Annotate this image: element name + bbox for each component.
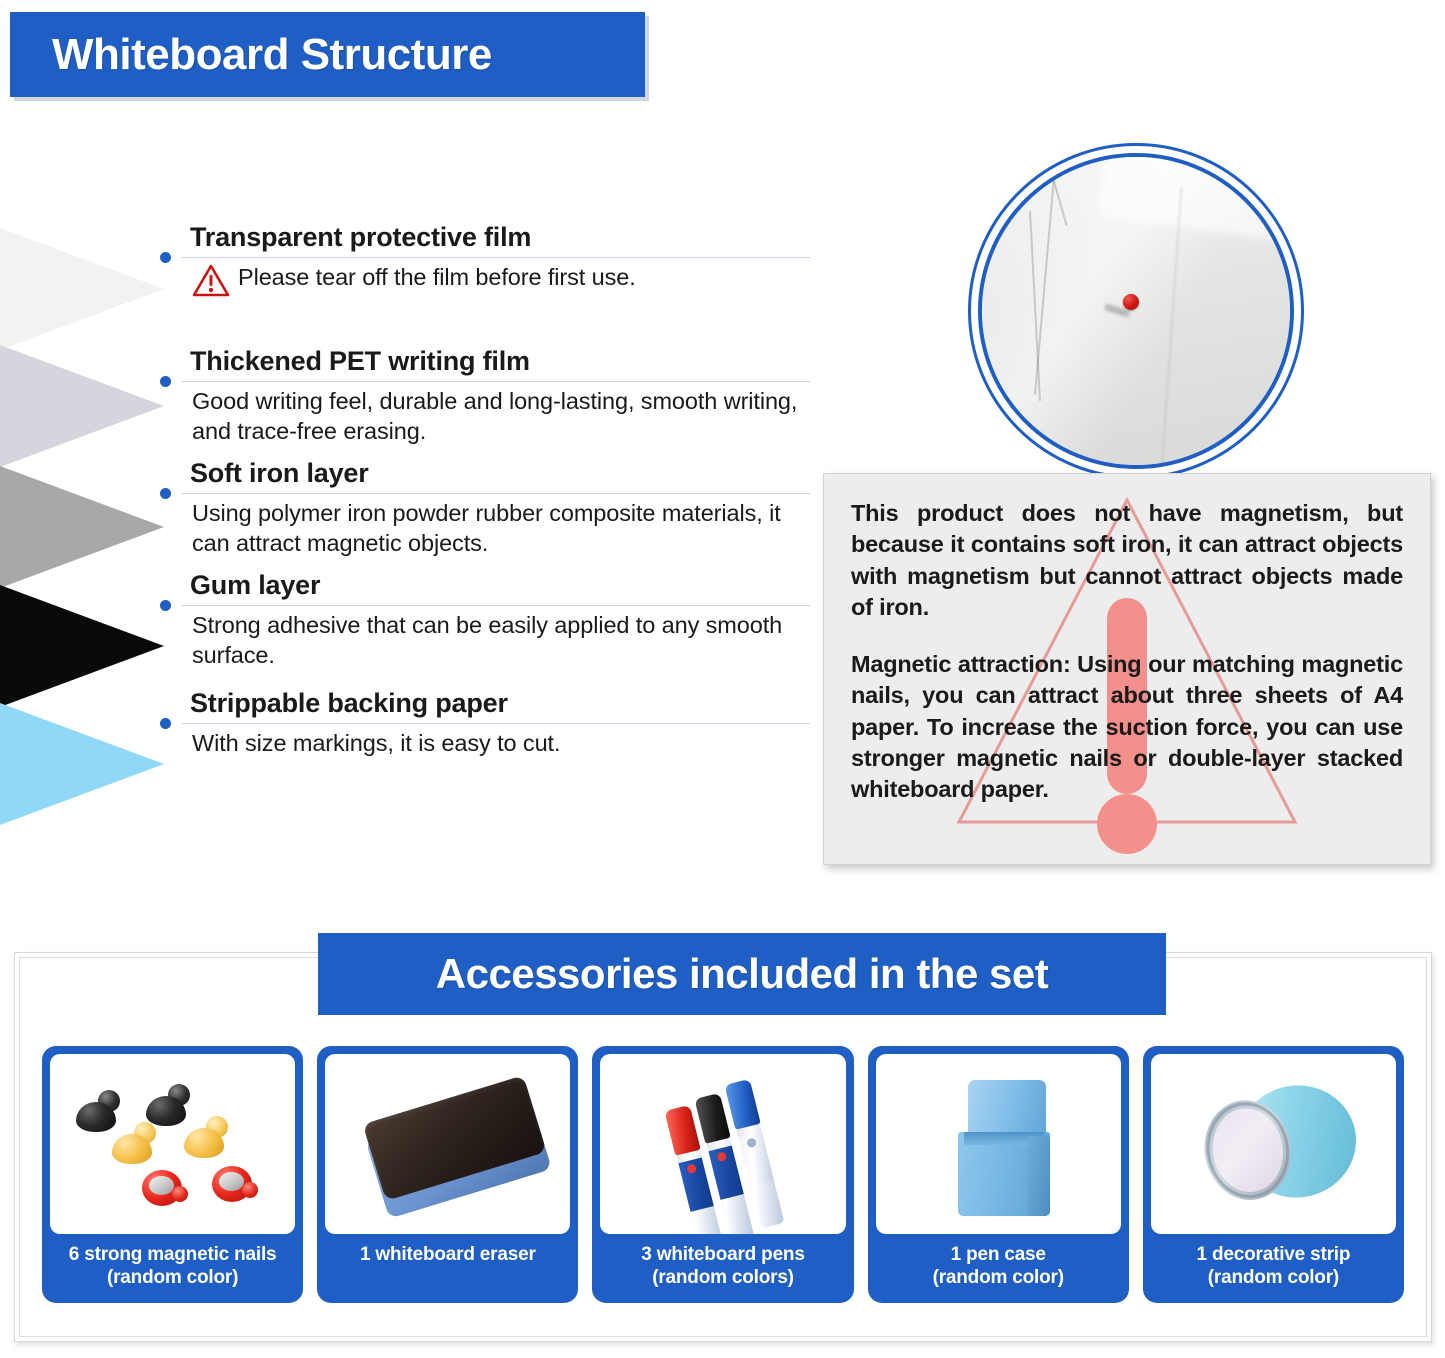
- accessory-caption: 1 whiteboard eraser: [325, 1240, 570, 1274]
- nail-cap: [76, 1102, 116, 1132]
- nail-cap: [112, 1134, 152, 1164]
- decorative-tape-roll: [1196, 1075, 1370, 1220]
- paper-fold-highlight: [1097, 153, 1294, 243]
- accessory-card-magnetic-nails[interactable]: 6 strong magnetic nails (random color): [42, 1046, 303, 1303]
- backing-paper-wedge: [0, 700, 164, 850]
- accessory-card-whiteboard-pens[interactable]: 3 whiteboard pens (random colors): [592, 1046, 853, 1303]
- spacer: [160, 558, 810, 570]
- whiteboard-pens-art: [600, 1054, 845, 1234]
- magnetic-nails-art: [50, 1054, 295, 1234]
- pen-cap: [665, 1105, 701, 1156]
- page-title: Whiteboard Structure: [10, 30, 492, 80]
- feature-title: Transparent protective film: [160, 222, 810, 254]
- feature-bullet-dot: [160, 252, 171, 263]
- feature-description: Good writing feel, durable and long-last…: [160, 386, 810, 446]
- nail-metal-disc: [219, 1172, 244, 1191]
- feature-bullet-dot: [160, 488, 171, 499]
- magnetic-nail-yellow: [112, 1122, 156, 1166]
- feature-bullet-dot: [160, 600, 171, 611]
- note-paragraph-1: This product does not have magnetism, bu…: [851, 498, 1403, 623]
- accessory-caption: 3 whiteboard pens (random colors): [600, 1240, 845, 1297]
- feature-title: Strippable backing paper: [160, 688, 810, 720]
- magnetic-pin-photo-frame: [968, 143, 1304, 479]
- pen-case-art: [876, 1054, 1121, 1234]
- accessory-card-decorative-strip[interactable]: 1 decorative strip (random color): [1143, 1046, 1404, 1303]
- feature-title: Gum layer: [160, 570, 810, 602]
- pen-label: [739, 1131, 774, 1185]
- accessory-caption-line2: (random colors): [602, 1267, 843, 1290]
- magnetic-nail-red: [212, 1158, 256, 1202]
- feature-rule: [182, 723, 810, 724]
- feature-description: Using polymer iron powder rubber composi…: [160, 498, 810, 558]
- feature-item-strippable-backing-paper: Strippable backing paper With size marki…: [160, 688, 810, 758]
- accessories-section: Accessories included in the set: [14, 952, 1432, 1342]
- note-body: This product does not have magnetism, bu…: [824, 474, 1430, 805]
- paper-fold-line: [1160, 187, 1183, 469]
- nail-metal-disc: [149, 1176, 174, 1195]
- accessory-caption-line1: 3 whiteboard pens: [641, 1244, 804, 1265]
- accessory-caption-line1: 1 whiteboard eraser: [360, 1244, 536, 1265]
- red-magnetic-pin: [1123, 294, 1139, 310]
- note-paragraph-2: Magnetic attraction: Using our matching …: [851, 649, 1403, 805]
- spacer: [160, 446, 810, 458]
- whiteboard-eraser: [361, 1075, 552, 1217]
- accessories-banner: Accessories included in the set: [318, 933, 1166, 1015]
- feature-item-soft-iron-layer: Soft iron layer Using polymer iron powde…: [160, 458, 810, 558]
- paper-sheet-edge: [1029, 211, 1040, 401]
- accessory-caption-line2: (random color): [1153, 1267, 1394, 1290]
- pen-label: [679, 1157, 714, 1211]
- magnetic-nail-red: [142, 1162, 186, 1206]
- feature-description-row: Please tear off the film before first us…: [160, 262, 810, 304]
- feature-rule: [182, 381, 810, 382]
- accessories-banner-title: Accessories included in the set: [436, 950, 1048, 998]
- pen-case-side-panel: [1028, 1136, 1050, 1216]
- magnetic-nail-yellow: [184, 1116, 228, 1160]
- feature-description: Please tear off the film before first us…: [238, 262, 636, 292]
- infographic-page: Whiteboard Structure Transparent protect…: [0, 0, 1445, 1358]
- accessory-caption: 6 strong magnetic nails (random color): [50, 1240, 295, 1297]
- accessory-caption-line1: 1 decorative strip: [1197, 1244, 1351, 1265]
- layer-stack-diagram: [0, 225, 172, 845]
- feature-item-gum-layer: Gum layer Strong adhesive that can be ea…: [160, 570, 810, 670]
- warning-triangle-icon: [192, 264, 230, 304]
- feature-rule: [182, 493, 810, 494]
- feature-list: Transparent protective film Please tear …: [160, 222, 810, 758]
- pen-case: [954, 1080, 1064, 1216]
- spacer: [160, 670, 810, 688]
- accessories-frame: Accessories included in the set: [19, 957, 1427, 1337]
- accessory-caption: 1 pen case (random color): [876, 1240, 1121, 1297]
- feature-item-transparent-protective-film: Transparent protective film Please tear …: [160, 222, 810, 304]
- feature-rule: [182, 257, 810, 258]
- accessory-caption-line1: 1 pen case: [951, 1244, 1046, 1265]
- feature-bullet-dot: [160, 718, 171, 729]
- decorative-strip-art: [1151, 1054, 1396, 1234]
- nail-knob: [172, 1186, 188, 1202]
- spacer: [160, 304, 810, 346]
- whiteboard-paper-surface: [982, 157, 1290, 465]
- accessory-caption-line1: 6 strong magnetic nails: [69, 1244, 277, 1265]
- feature-description: With size markings, it is easy to cut.: [160, 728, 810, 758]
- whiteboard-pens-group: [660, 1074, 810, 1224]
- feature-title: Thickened PET writing film: [160, 346, 810, 378]
- accessory-card-whiteboard-eraser[interactable]: 1 whiteboard eraser: [317, 1046, 578, 1303]
- feature-bullet-dot: [160, 376, 171, 387]
- nail-cap: [184, 1128, 224, 1158]
- magnetic-nails-group: [50, 1054, 295, 1234]
- magnetic-pin-on-whiteboard-photo: [978, 153, 1294, 469]
- accessories-grid: 6 strong magnetic nails (random color) 1…: [20, 1046, 1426, 1303]
- page-title-banner: Whiteboard Structure: [10, 12, 645, 97]
- nail-knob: [242, 1182, 258, 1198]
- feature-description: Strong adhesive that can be easily appli…: [160, 610, 810, 670]
- accessory-caption-line2: (random color): [52, 1267, 293, 1290]
- magnetism-note-box: This product does not have magnetism, bu…: [823, 473, 1431, 865]
- feature-title: Soft iron layer: [160, 458, 810, 490]
- pen-label: [709, 1145, 744, 1199]
- feature-rule: [182, 605, 810, 606]
- whiteboard-eraser-art: [325, 1054, 570, 1234]
- accessory-caption: 1 decorative strip (random color): [1151, 1240, 1396, 1297]
- accessory-caption-line2: (random color): [878, 1267, 1119, 1290]
- pen-cap: [725, 1079, 761, 1130]
- pen-cap: [695, 1093, 731, 1144]
- accessory-card-pen-case[interactable]: 1 pen case (random color): [868, 1046, 1129, 1303]
- feature-item-pet-writing-film: Thickened PET writing film Good writing …: [160, 346, 810, 446]
